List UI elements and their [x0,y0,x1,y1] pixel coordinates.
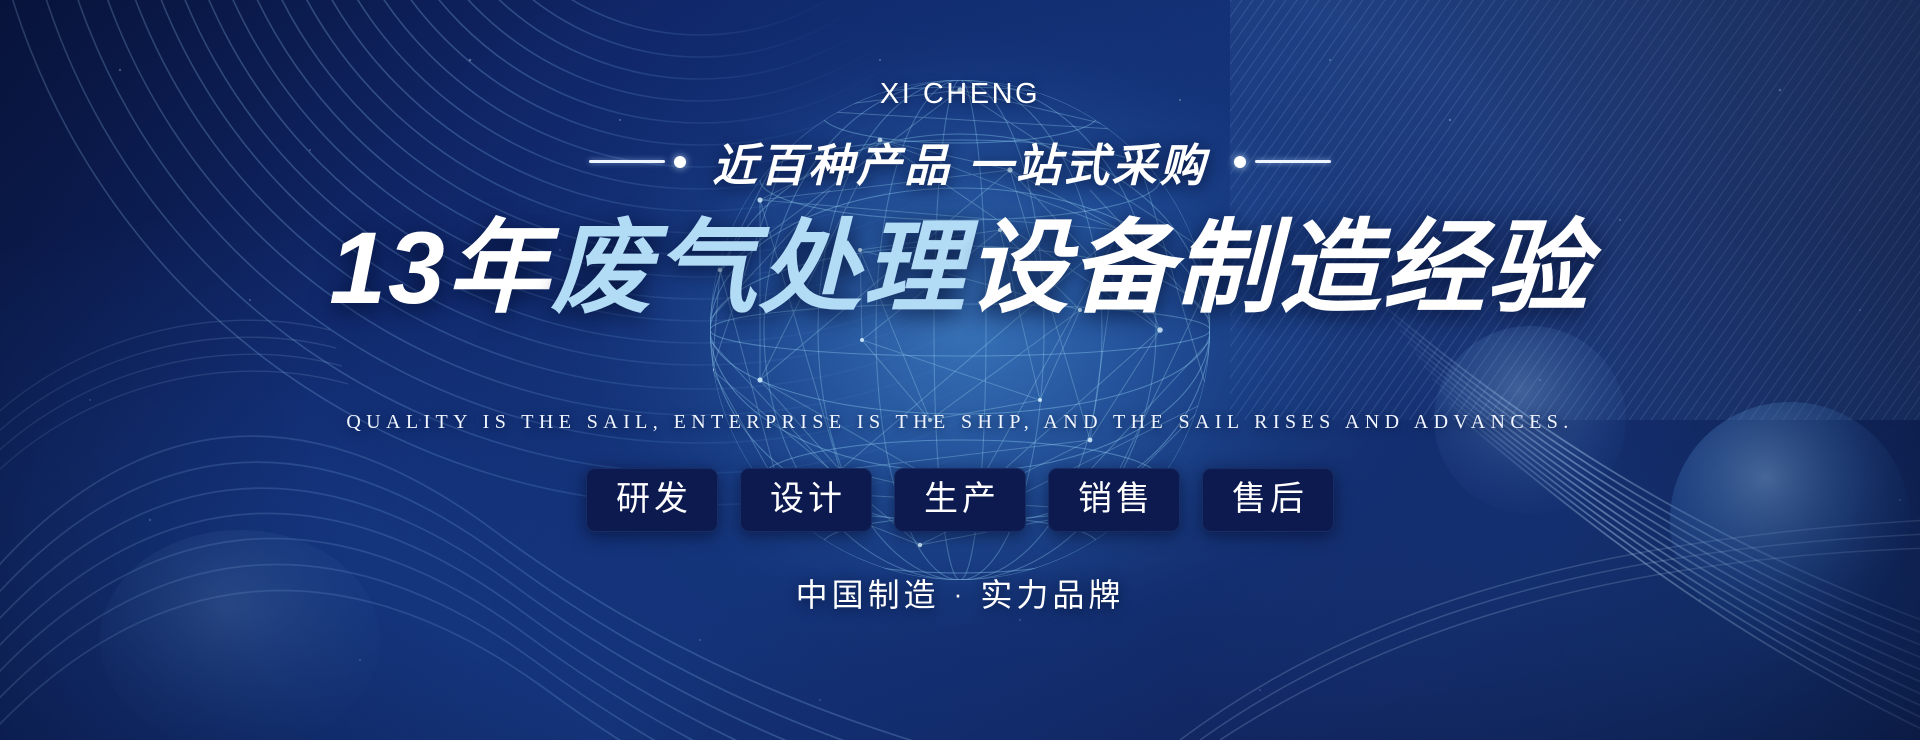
brand-name-en: XI CHENG [880,78,1040,111]
service-tag-sales[interactable]: 销售 [1048,468,1180,532]
service-tag-list: 研发 设计 生产 销售 售后 [586,468,1334,532]
left-rule-decoration [589,156,686,168]
left-rule-bar [589,160,665,163]
service-tag-design[interactable]: 设计 [740,468,872,532]
right-rule-dot [1234,156,1246,168]
banner-content: XI CHENG 近百种产品 一站式采购 13年废气处理设备制造经验 QUALI… [0,0,1920,740]
service-tag-aftersales[interactable]: 售后 [1202,468,1334,532]
hero-banner: XI CHENG 近百种产品 一站式采购 13年废气处理设备制造经验 QUALI… [0,0,1920,740]
headline-accent: 废气处理 [551,211,967,325]
headline-suffix: 设备制造经验 [967,211,1591,325]
subtitle-text: 近百种产品 一站式采购 [712,129,1208,194]
subtitle-row: 近百种产品 一站式采购 [589,129,1331,194]
footer-slogan-right: 实力品牌 [980,577,1124,613]
left-rule-dot [674,156,686,168]
right-rule-bar [1255,160,1331,163]
headline-prefix: 13年 [329,211,550,325]
right-rule-decoration [1234,156,1331,168]
service-tag-rd[interactable]: 研发 [586,468,718,532]
service-tag-production[interactable]: 生产 [894,468,1026,532]
footer-slogan-separator: · [940,579,981,609]
headline: 13年废气处理设备制造经验 [329,208,1590,328]
footer-slogan-left: 中国制造 [796,577,940,613]
footer-slogan: 中国制造·实力品牌 [796,570,1125,616]
tagline-english: QUALITY IS THE SAIL, ENTERPRISE IS THE S… [346,411,1573,434]
